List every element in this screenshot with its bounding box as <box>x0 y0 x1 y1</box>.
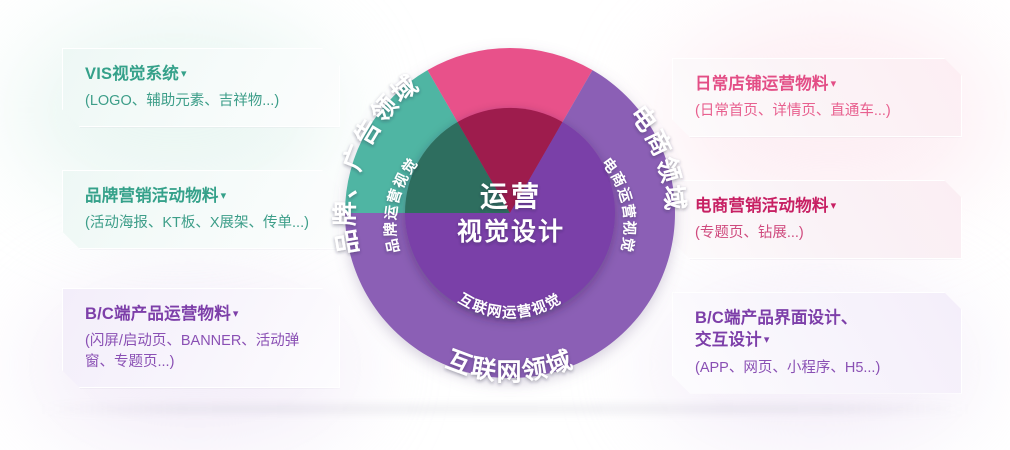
card-bc-product-ui-interaction-design[interactable]: B/C端产品界面设计、交互设计▾ (APP、网页、小程序、H5...) <box>672 292 962 394</box>
chevron-down-icon[interactable]: ▾ <box>831 77 837 92</box>
card-title: 电商营销活动物料▾ <box>695 195 943 217</box>
card-brand-marketing-materials[interactable]: 品牌营销活动物料▾ (活动海报、KT板、X展架、传单...) <box>62 170 340 249</box>
chevron-down-icon[interactable]: ▾ <box>221 189 227 204</box>
ground-shadow <box>40 404 970 414</box>
chart-center-title-line2: 视觉设计 <box>457 218 565 246</box>
card-subtitle: (APP、网页、小程序、H5...) <box>695 358 943 379</box>
card-title: VIS视觉系统▾ <box>85 63 321 85</box>
card-bc-product-operations-materials[interactable]: B/C端产品运营物料▾ (闪屏/启动页、BANNER、活动弹窗、专题页...) <box>62 288 340 388</box>
chevron-down-icon[interactable]: ▾ <box>233 307 239 322</box>
card-subtitle: (专题页、钻展...) <box>695 223 943 244</box>
card-title: 品牌营销活动物料▾ <box>85 185 321 207</box>
card-title: 日常店铺运营物料▾ <box>695 73 943 95</box>
chevron-down-icon[interactable]: ▾ <box>181 67 187 82</box>
card-subtitle: (日常首页、详情页、直通车...) <box>695 101 943 122</box>
card-title: B/C端产品运营物料▾ <box>85 303 321 325</box>
infographic-canvas: VIS视觉系统▾ (LOGO、辅助元素、吉祥物...) 品牌营销活动物料▾ (活… <box>0 0 1010 450</box>
operations-visual-design-donut-chart: 品牌、广告领域 电商领域 互联网领域 品牌运营视觉 电商运营视觉 互联网运营视觉… <box>325 28 695 398</box>
card-subtitle: (活动海报、KT板、X展架、传单...) <box>85 213 321 234</box>
donut-svg: 品牌、广告领域 电商领域 互联网领域 品牌运营视觉 电商运营视觉 互联网运营视觉… <box>325 28 695 398</box>
card-title: B/C端产品界面设计、交互设计▾ <box>695 307 943 352</box>
card-ecommerce-marketing-materials[interactable]: 电商营销活动物料▾ (专题页、钻展...) <box>672 180 962 259</box>
inner-ring-group <box>405 108 615 318</box>
card-subtitle: (LOGO、辅助元素、吉祥物...) <box>85 91 321 112</box>
chevron-down-icon[interactable]: ▾ <box>764 333 770 348</box>
card-vis-visual-system[interactable]: VIS视觉系统▾ (LOGO、辅助元素、吉祥物...) <box>62 48 340 127</box>
card-daily-store-operations-materials[interactable]: 日常店铺运营物料▾ (日常首页、详情页、直通车...) <box>672 58 962 137</box>
chart-center-title-line1: 运营 <box>480 181 542 212</box>
card-subtitle: (闪屏/启动页、BANNER、活动弹窗、专题页...) <box>85 331 321 373</box>
chevron-down-icon[interactable]: ▾ <box>831 199 837 214</box>
